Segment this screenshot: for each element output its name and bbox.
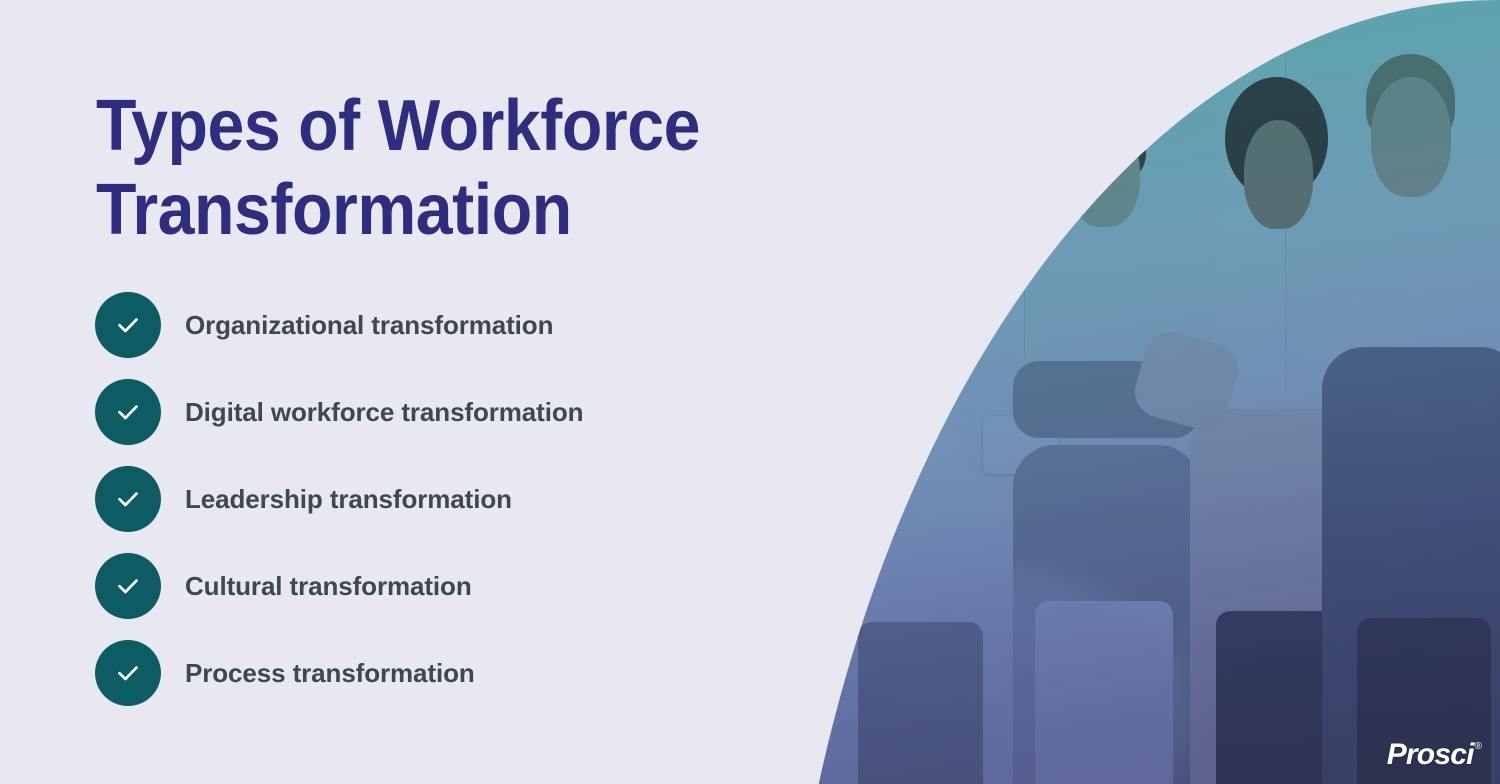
- list-item: Digital workforce transformation: [95, 379, 755, 445]
- list-item: Process transformation: [95, 640, 755, 706]
- page-title: Types of Workforce Transformation: [96, 84, 722, 252]
- list-item: Leadership transformation: [95, 466, 755, 532]
- duotone-highlight-overlay: [757, 0, 1500, 784]
- prosci-logo: Prosci ®: [1387, 740, 1482, 770]
- content-pane: Types of Workforce Transformation Organi…: [0, 0, 760, 784]
- brand-wordmark: Prosci: [1387, 740, 1474, 770]
- list-item: Organizational transformation: [95, 292, 755, 358]
- head: [874, 99, 950, 210]
- check-icon: [95, 640, 161, 706]
- list-item-label: Organizational transformation: [185, 310, 553, 341]
- list-item-label: Process transformation: [185, 658, 475, 689]
- photo-clip-shape: [757, 0, 1500, 784]
- list-item-label: Leadership transformation: [185, 484, 512, 515]
- window: [802, 0, 891, 455]
- check-icon: [95, 553, 161, 619]
- list-item-label: Digital workforce transformation: [185, 397, 583, 428]
- registered-trademark-icon: ®: [1475, 742, 1482, 752]
- list-item: Cultural transformation: [95, 553, 755, 619]
- infographic-canvas: Types of Workforce Transformation Organi…: [0, 0, 1500, 784]
- list-item-label: Cultural transformation: [185, 571, 472, 602]
- hair: [867, 77, 956, 173]
- check-icon: [95, 466, 161, 532]
- check-icon: [95, 292, 161, 358]
- checklist: Organizational transformation Digital wo…: [95, 292, 755, 727]
- check-icon: [95, 379, 161, 445]
- photo-panel: Prosci ®: [757, 0, 1500, 784]
